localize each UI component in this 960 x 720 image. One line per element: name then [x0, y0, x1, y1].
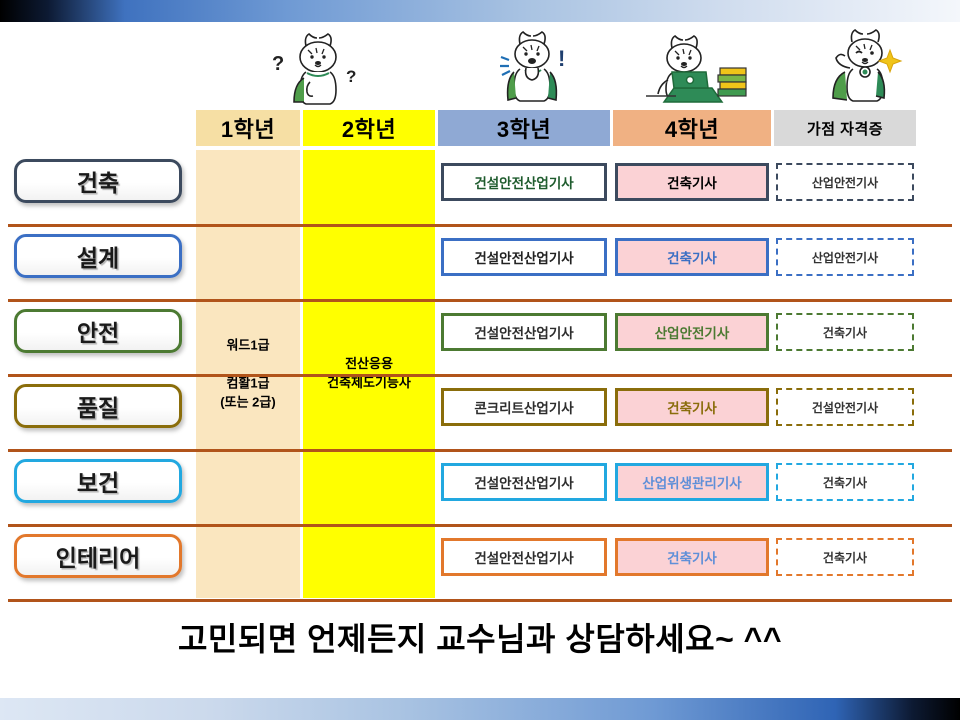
svg-text:?: ? [346, 67, 356, 86]
year4-certificate-box[interactable]: 건축기사 [615, 388, 769, 426]
top-decor-banner [0, 0, 960, 22]
year4-certificate-box[interactable]: 건축기사 [615, 163, 769, 201]
thinking-tiger-icon: ? ? [258, 24, 368, 110]
bonus-certificate-box[interactable]: 건설안전기사 [776, 388, 914, 426]
category-pill[interactable]: 품질 [14, 384, 182, 428]
bonus-certificate-box[interactable]: 산업안전기사 [776, 238, 914, 276]
mascot-row: ? ? [0, 22, 960, 110]
table-row: 품질콘크리트산업기사건축기사건설안전기사 [0, 375, 960, 450]
year4-certificate-box[interactable]: 건축기사 [615, 238, 769, 276]
year3-certificate-box[interactable]: 건설안전산업기사 [441, 313, 607, 351]
svg-text:?: ? [272, 53, 284, 75]
year4-certificate-box[interactable]: 산업안전기사 [615, 313, 769, 351]
category-pill[interactable]: 안전 [14, 309, 182, 353]
row-divider [8, 599, 952, 602]
year4-certificate-box[interactable]: 건축기사 [615, 538, 769, 576]
studying-tiger-icon [638, 24, 764, 110]
surprised-tiger-icon: ! [478, 24, 588, 110]
year3-certificate-box[interactable]: 건설안전산업기사 [441, 538, 607, 576]
bonus-certificate-box[interactable]: 산업안전기사 [776, 163, 914, 201]
svg-text:!: ! [558, 46, 565, 71]
bottom-decor-banner [0, 698, 960, 720]
bonus-certificate-box[interactable]: 건축기사 [776, 313, 914, 351]
year3-certificate-box[interactable]: 건설안전산업기사 [441, 163, 607, 201]
thumbs-up-tiger-icon [812, 24, 922, 110]
table-row: 보건건설안전산업기사산업위생관리기사건축기사 [0, 450, 960, 525]
header-year2: 2학년 [303, 110, 435, 146]
header-bonus-certificate: 가점 자격증 [774, 110, 916, 146]
table-row: 건축건설안전산업기사건축기사산업안전기사 [0, 150, 960, 225]
header-year3: 3학년 [438, 110, 610, 146]
table-row: 인테리어건설안전산업기사건축기사건축기사 [0, 525, 960, 600]
bottom-caption: 고민되면 언제든지 교수님과 상담하세요~ ^^ [0, 614, 960, 660]
category-pill[interactable]: 보건 [14, 459, 182, 503]
category-pill[interactable]: 설계 [14, 234, 182, 278]
category-pill[interactable]: 건축 [14, 159, 182, 203]
year3-certificate-box[interactable]: 건설안전산업기사 [441, 463, 607, 501]
category-pill[interactable]: 인테리어 [14, 534, 182, 578]
header-year1: 1학년 [196, 110, 300, 146]
bonus-certificate-box[interactable]: 건축기사 [776, 538, 914, 576]
slide-stage: ? ? [0, 22, 960, 698]
year3-certificate-box[interactable]: 콘크리트산업기사 [441, 388, 607, 426]
header-year4: 4학년 [613, 110, 771, 146]
year4-certificate-box[interactable]: 산업위생관리기사 [615, 463, 769, 501]
bonus-certificate-box[interactable]: 건축기사 [776, 463, 914, 501]
year3-certificate-box[interactable]: 건설안전산업기사 [441, 238, 607, 276]
table-row: 설계건설안전산업기사건축기사산업안전기사 [0, 225, 960, 300]
table-row: 안전건설안전산업기사산업안전기사건축기사 [0, 300, 960, 375]
